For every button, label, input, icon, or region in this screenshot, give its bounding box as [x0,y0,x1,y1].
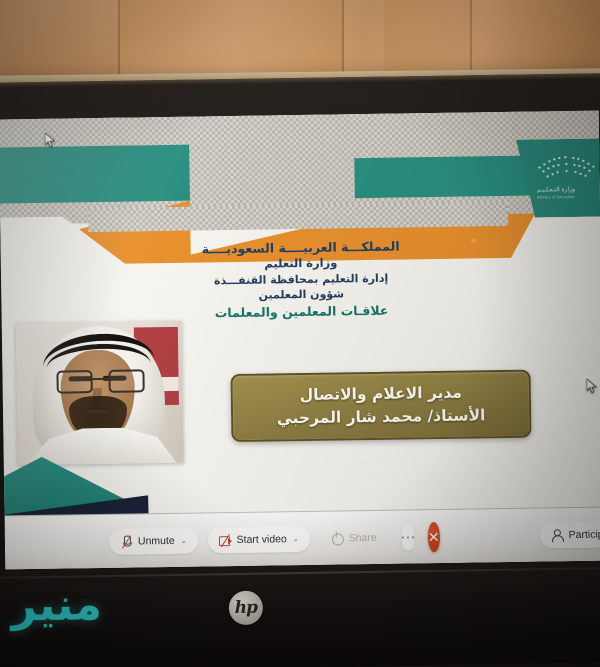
presentation-slide: وزارة التـعـلـيـم Ministry of Education … [0,111,600,570]
laptop-screen: وزارة التـعـلـيـم Ministry of Education … [0,111,600,570]
arabic-watermark: منير [0,583,102,647]
chassis-highlight [0,567,600,579]
unmute-label: Unmute [138,535,175,548]
slide-header-text: المملكـــة العربيــــة السعوديــــة وزار… [1,235,600,326]
participants-button[interactable]: Participants [539,521,600,548]
plaque-line-2: الأستاذ/ محمد شار المرحبي [277,404,486,430]
speaker-title-plaque: مدير الاعلام والاتصال الأستاذ/ محمد شار … [230,370,531,442]
end-meeting-button[interactable]: ✕ [428,522,440,552]
laptop-photo: وزارة التـعـلـيـم Ministry of Education … [0,0,600,667]
close-icon: ✕ [428,530,440,544]
hp-logo: hp [229,591,264,626]
logo-arabic-text: وزارة التـعـلـيـم [537,186,575,194]
chevron-down-icon[interactable]: ⌄ [293,535,299,543]
microphone-muted-icon [120,536,133,548]
zoom-meeting-toolbar[interactable]: Unmute ⌄ Start video ⌄ Share ✕ [5,507,600,570]
camera-off-icon [219,534,232,546]
laptop-chassis: منير hp [0,561,600,667]
plaque-line-1: مدير الاعلام والاتصال [300,381,463,407]
more-options-button[interactable] [401,524,414,550]
speaker-portrait-photo [16,321,184,465]
unmute-button[interactable]: Unmute ⌄ [109,528,198,555]
start-video-label: Start video [237,533,287,546]
participants-icon [550,529,563,541]
slide-teal-bar-right [354,156,535,199]
share-button[interactable]: Share [319,525,387,552]
participants-label: Participants [568,528,600,541]
share-label: Share [349,532,377,544]
share-screen-icon [331,532,344,544]
logo-english-text: Ministry of Education [537,195,575,200]
start-video-button[interactable]: Start video ⌄ [207,526,309,554]
slide-teal-bar-left [0,145,190,204]
logo-dot-pattern-icon [536,154,594,181]
chevron-down-icon[interactable]: ⌄ [181,537,187,545]
